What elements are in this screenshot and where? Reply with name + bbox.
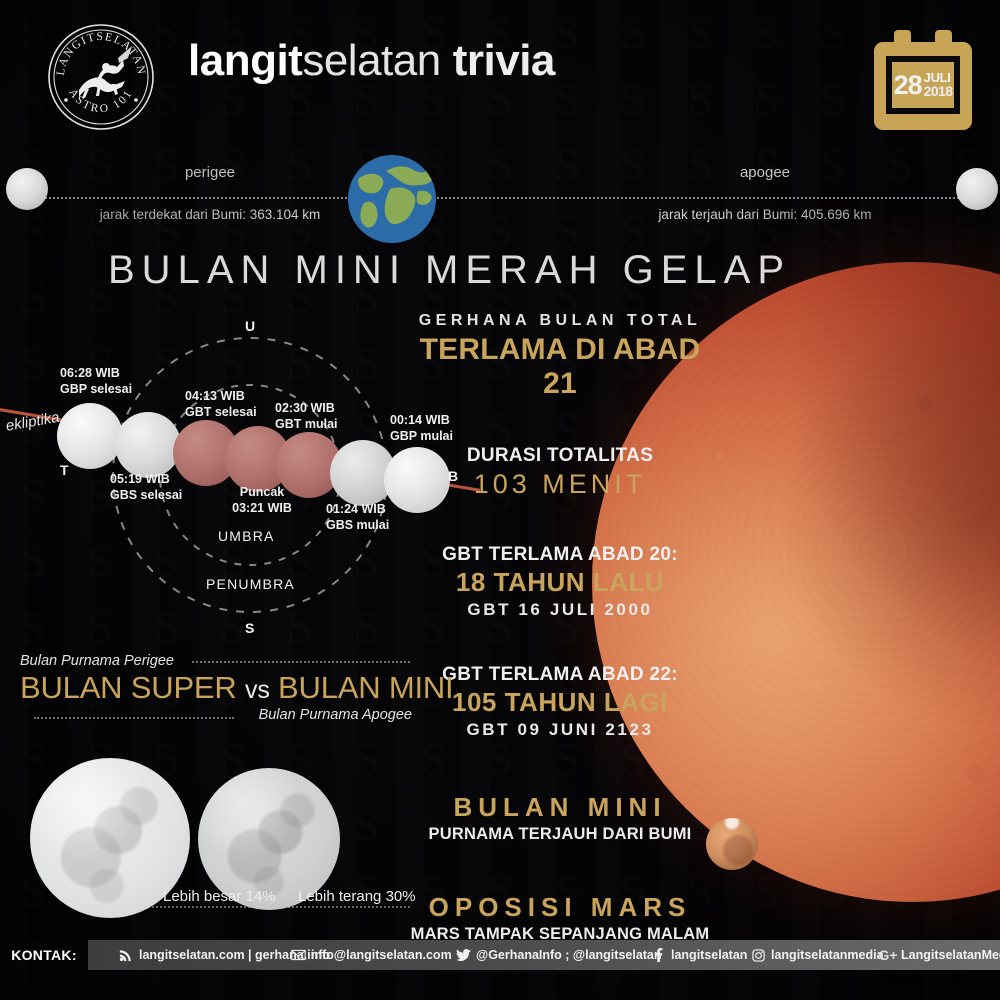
- calendar-year: 2018: [924, 84, 953, 98]
- comparison-title: BULAN SUPER vs BULAN MINI: [20, 671, 420, 705]
- phase-label-gbt-selesai: 04:13 WIBGBT selesai: [185, 389, 257, 420]
- phase-label-gbs-selesai: 05:19 WIBGBS selesai: [110, 472, 182, 503]
- main-headline: BULAN MINI MERAH GELAP: [108, 248, 791, 293]
- mars-planet-icon: [706, 818, 758, 870]
- phase-label-gbs-mulai: 01:24 WIBGBS mulai: [326, 502, 389, 533]
- eclipse-headline: TERLAMA DI ABAD 21: [400, 333, 720, 401]
- footer-item-text: info@langitselatan.com: [311, 948, 452, 962]
- comparison-bottom-row: Bulan Purnama Apogee: [20, 707, 420, 727]
- orbit-dotted-line: [18, 197, 982, 199]
- orbit-distance-band: [0, 152, 1000, 252]
- calendar-body: 28 JULI 2018: [874, 42, 972, 130]
- footer-item-envelope[interactable]: info@langitselatan.com: [290, 948, 452, 962]
- footer-contact-bar: KONTAK: langitselatan.com | gerhana.info…: [0, 940, 1000, 970]
- footer-label: KONTAK:: [0, 947, 88, 963]
- logo-bottom-text: ASTRO 101: [66, 87, 135, 115]
- brand-bold: langit: [188, 36, 302, 85]
- envelope-icon: [290, 948, 306, 962]
- calendar-day: 28: [894, 72, 922, 99]
- apogee-moon-icon: [956, 168, 998, 210]
- past-eclipse-label: GBT TERLAMA ABAD 20:: [400, 544, 720, 566]
- svg-text:LANGITSELATAN: LANGITSELATAN: [55, 31, 147, 76]
- minimoon-subtitle: PURNAMA TERJAUH DARI BUMI: [400, 825, 720, 844]
- calendar-month: JULI: [924, 71, 953, 84]
- past-eclipse-group: GBT TERLAMA ABAD 20: 18 TAHUN LALU GBT 1…: [400, 544, 720, 620]
- footer-item-text: @GerhanaInfo ; @langitselatan: [476, 948, 662, 962]
- svg-text:ASTRO 101: ASTRO 101: [66, 87, 135, 115]
- twitter-icon: [455, 948, 471, 962]
- duration-value: 103 MENIT: [400, 469, 720, 500]
- footer-item-text: langitselatan: [671, 948, 747, 962]
- facebook-icon: [650, 948, 666, 962]
- comparison-top-row: Bulan Purnama Perigee: [20, 652, 420, 670]
- calendar-icon: 28 JULI 2018: [874, 30, 972, 130]
- comparison-title-left: BULAN SUPER: [20, 670, 237, 705]
- page-title: langitselatantrivia: [188, 36, 555, 86]
- footer-item-twitter[interactable]: @GerhanaInfo ; @langitselatan: [455, 948, 662, 962]
- eclipse-kicker: GERHANA BULAN TOTAL: [400, 312, 720, 330]
- comparison-metrics-rule: [148, 906, 410, 908]
- footer-item-text: LangitselatanMedia: [901, 948, 1000, 962]
- footer-item-google-plus[interactable]: G+LangitselatanMedia: [880, 948, 1000, 962]
- duration-group: DURASI TOTALITAS 103 MENIT: [400, 445, 720, 500]
- eclipse-moon-gbs-selesai: [115, 412, 181, 478]
- rss-icon: [118, 948, 134, 962]
- eclipse-moon-gbp-selesai: [57, 403, 123, 469]
- past-eclipse-value: 18 TAHUN LALU: [400, 567, 720, 598]
- perigee-moon-icon: [6, 168, 48, 210]
- supermoon-vs-minimoon-section: Bulan Purnama Perigee BULAN SUPER vs BUL…: [20, 652, 420, 727]
- node-left-label: T: [60, 462, 69, 478]
- footer-item-text: langitselatanmedia: [771, 948, 884, 962]
- duration-label: DURASI TOTALITAS: [400, 445, 720, 467]
- comparison-top-rule: [192, 661, 410, 663]
- google-plus-icon: G+: [880, 948, 896, 962]
- infographic-page: SSSSSSSSSSSSSSSSSSSSSSSSSSSSSSSSSSSSSSSS…: [0, 0, 1000, 1000]
- minimoon-group: BULAN MINI PURNAMA TERJAUH DARI BUMI: [400, 792, 720, 844]
- earth-icon: [348, 155, 436, 243]
- comparison-title-vs: vs: [245, 676, 270, 704]
- footer-item-instagram[interactable]: langitselatanmedia: [750, 948, 884, 962]
- mars-opposition-group: OPOSISI MARS MARS TAMPAK SEPANJANG MALAM: [400, 892, 720, 944]
- umbra-label: UMBRA: [218, 528, 275, 544]
- langitselatan-logo[interactable]: LANGITSELATAN ASTRO 101: [46, 22, 156, 132]
- instagram-icon: [750, 948, 766, 962]
- mars-title: OPOSISI MARS: [400, 892, 720, 923]
- future-eclipse-date: GBT 09 JUNI 2123: [400, 720, 720, 740]
- metric-size: Lebih besar 14%: [163, 888, 276, 905]
- past-eclipse-date: GBT 16 JULI 2000: [400, 600, 720, 620]
- comparison-bottom-rule: [34, 717, 234, 719]
- peak-label: Puncak03:21 WIB: [222, 485, 302, 516]
- calendar-screen: 28 JULI 2018: [886, 56, 960, 114]
- metric-brightness: Lebih terang 30%: [298, 888, 416, 905]
- minimoon-title: BULAN MINI: [400, 792, 720, 823]
- phase-label-gbt-mulai: 02:30 WIBGBT mulai: [275, 401, 338, 432]
- eclipse-kicker-group: GERHANA BULAN TOTAL TERLAMA DI ABAD 21: [400, 312, 720, 401]
- brand-light: selatan: [302, 36, 440, 85]
- calendar-date-plate: 28 JULI 2018: [892, 62, 954, 108]
- pole-north-label: U: [245, 318, 255, 334]
- pole-south-label: S: [245, 620, 254, 636]
- penumbra-label: PENUMBRA: [206, 576, 295, 592]
- phase-label-gbp-selesai: 06:28 WIBGBP selesai: [60, 366, 132, 397]
- comparison-bottom-italic: Bulan Purnama Apogee: [259, 707, 412, 723]
- logo-outer-text: LANGITSELATAN: [55, 31, 147, 76]
- comparison-title-right: BULAN MINI: [278, 670, 453, 705]
- comparison-top-italic: Bulan Purnama Perigee: [20, 653, 174, 669]
- facts-column: GERHANA BULAN TOTAL TERLAMA DI ABAD 21 D…: [400, 312, 720, 944]
- footer-item-facebook[interactable]: langitselatan: [650, 948, 747, 962]
- brand-suffix: trivia: [453, 36, 555, 85]
